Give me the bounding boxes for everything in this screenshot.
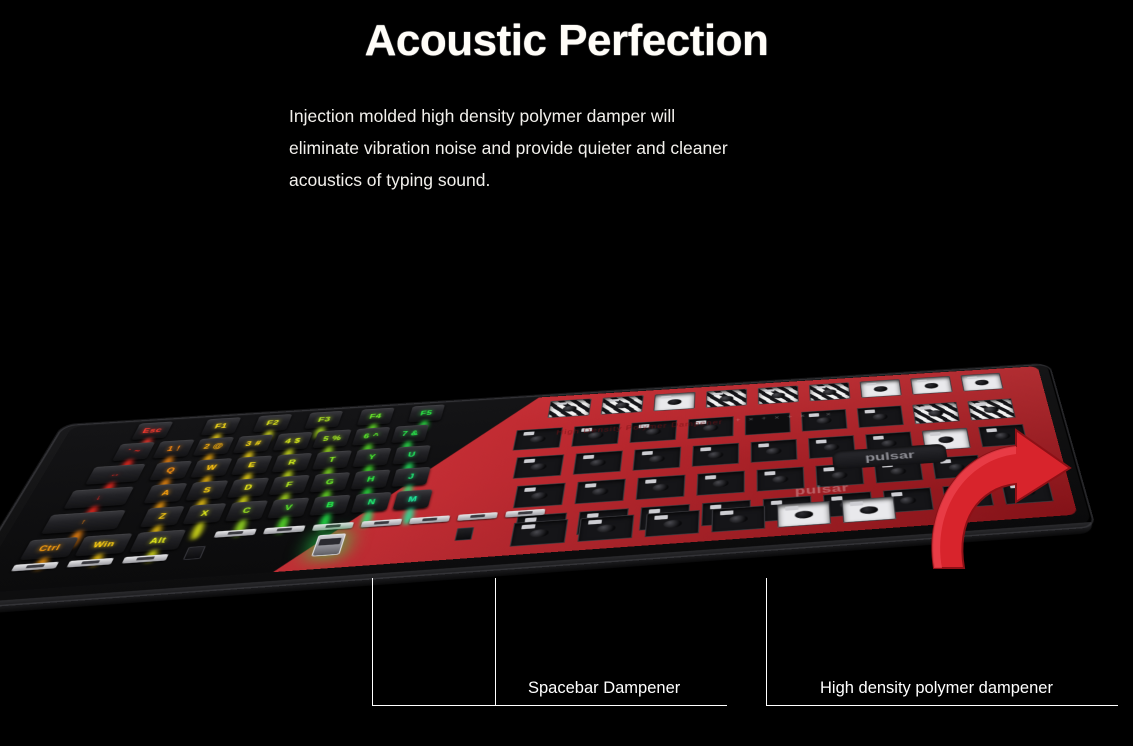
keycap-legend: Win [91,540,116,549]
keycap-f[interactable]: F [268,475,310,495]
keycap-alt[interactable]: Alt [129,530,186,553]
keycap-legend: F4 [368,413,382,420]
keycap-legend: N [366,498,376,506]
switch-socket-bottom-3 [711,505,765,532]
keycap-[interactable]: ↑ [41,510,126,534]
keycap-s[interactable]: S [185,480,228,501]
keycap-legend: ↔ [108,470,122,478]
lift-arrow-icon [920,428,1080,578]
keycap-6[interactable]: 6 ^ [352,427,391,446]
keycap-stabilizer-dampener [11,562,59,572]
callout-line-spacebar-left [372,578,373,705]
callout-line-spacebar-right [495,578,496,705]
switch-socket-r0-c0 [513,427,563,450]
switch-socket-fn-0 [547,399,591,419]
switch-socket-fn-8 [960,373,1003,392]
keycap-legend: X [199,510,210,518]
keycap-[interactable]: ` ~ [112,442,155,461]
keycap-f3[interactable]: F3 [305,411,344,429]
spacebar-dampener-strip [263,525,306,534]
switch-socket-fn-7 [910,376,952,395]
switch-socket-bottom-4 [777,501,831,528]
keycap-legend: R [287,459,297,466]
keycap-z[interactable]: Z [140,506,185,527]
keycap-legend: F2 [265,420,280,427]
switch-socket-r2-c2 [636,475,686,500]
keycap-u[interactable]: U [392,445,431,464]
switch-socket-bottom-1 [577,515,634,542]
keycap-stabilizer-dampener [67,558,115,568]
keycap-2[interactable]: 2 @ [193,437,235,456]
callout-underline-polymer [766,705,1118,706]
switch-socket-r1-c1 [573,451,623,475]
keycap-f2[interactable]: F2 [253,414,293,432]
keycap-legend: S [202,487,213,495]
switch-socket-r2-c0 [513,483,566,509]
switch-socket-fn-2 [653,392,695,411]
description-line-2: eliminate vibration noise and provide qu… [289,132,849,164]
switch-socket-bottom-5 [842,496,897,522]
switch-socket-r1-c2 [633,447,682,471]
keycap-x[interactable]: X [182,503,226,524]
rgb-backlight-glow [189,522,207,541]
keycap-legend: 4 $ [284,438,302,446]
keycap-m[interactable]: M [393,489,433,510]
keycap-w[interactable]: W [190,458,232,478]
page-title: Acoustic Perfection [0,16,1133,66]
keycap-legend: Esc [141,427,163,435]
keycap-legend: J [407,473,415,480]
keycap-legend: G [325,478,336,486]
keycap-legend: 2 @ [202,442,225,450]
keycap-a[interactable]: A [143,483,187,504]
keycap-1[interactable]: 1 ! [152,439,194,458]
keyboard-product-image: High Density Polymer Dampener + × + × + … [18,300,1098,630]
keycap-legend: Q [165,467,177,474]
keycap-h[interactable]: H [350,470,390,490]
keycap-v[interactable]: V [267,498,310,519]
keycap-f4[interactable]: F4 [356,408,394,426]
feature-description: Injection molded high density polymer da… [289,100,849,196]
keycap-f5[interactable]: F5 [408,404,445,422]
switch-socket-r1-c0 [513,454,564,478]
keycap-t[interactable]: T [312,450,352,469]
keycap-b[interactable]: B [309,495,351,516]
keycap-[interactable]: ↓ [63,487,134,509]
keycap-legend: F [285,481,295,489]
keycap-legend: 3 # [244,440,262,448]
switch-socket-r2-c3 [696,471,744,496]
keycap-3[interactable]: 3 # [233,434,274,453]
keycap-legend: B [325,501,336,509]
keycap-esc[interactable]: Esc [131,422,173,441]
description-line-3: acoustics of typing sound. [289,164,849,196]
switch-socket-r1-c3 [692,443,739,467]
keycap-7[interactable]: 7 & [391,424,429,443]
keycap-legend: H [366,476,376,484]
keycap-legend: Z [157,513,168,521]
keycap-legend: V [283,504,293,512]
keycap-legend: F5 [419,410,433,417]
switch-housing [454,527,474,541]
keycap-g[interactable]: G [309,472,350,492]
keycap-legend: A [160,489,172,497]
keycap-ctrl[interactable]: Ctrl [20,537,79,560]
keycap-legend: C [241,507,252,515]
keycap-legend: U [407,451,417,458]
keycap-legend: F3 [317,416,332,423]
keycap-legend: D [243,484,254,492]
keycap-stabilizer-dampener [122,554,169,564]
keycap-4[interactable]: 4 $ [273,432,313,451]
keycap-legend: 7 & [401,430,420,438]
keycap-legend: T [328,456,337,463]
switch-socket-r0-c7 [912,402,960,424]
keycap-legend: F1 [213,423,228,430]
keycap-legend: M [407,496,418,504]
spacebar-dampener-strip [214,529,257,538]
switch-socket-fn-6 [860,379,902,398]
switch-socket-r0-c6 [857,405,904,427]
switch-socket-fn-3 [706,389,747,408]
keycap-j[interactable]: J [391,467,430,487]
switch-socket-r2-c1 [575,479,626,504]
switch-socket-fn-4 [758,386,799,405]
keycap-legend: W [205,464,218,472]
switch-socket-fn-1 [601,395,644,414]
switch-socket-bottom-0 [510,519,569,547]
switch-socket-r1-c4 [751,439,798,463]
keycap-legend: 6 ^ [362,432,379,439]
switch-socket-fn-5 [809,382,850,401]
keycap-legend: 1 ! [165,445,181,453]
keycap-q[interactable]: Q [149,461,192,481]
keycap-legend: ↓ [94,494,104,502]
keycap-c[interactable]: C [225,500,268,521]
keycap-legend: 5 % [322,435,343,443]
keycap-d[interactable]: D [227,478,270,498]
keycap-win[interactable]: Win [75,533,133,556]
keycap-legend: ↑ [79,518,89,526]
keycap-legend: Alt [148,537,168,546]
keycap-f1[interactable]: F1 [200,417,241,435]
keycap-legend: Y [367,454,376,461]
switch-socket-r0-c8 [967,398,1015,420]
keycap-legend: ` ~ [125,448,142,456]
callout-label-polymer: High density polymer dampener [820,679,1053,698]
product-feature-slide: Acoustic Perfection Injection molded hig… [0,0,1133,746]
keycap-legend: Ctrl [37,544,62,553]
keycap-r[interactable]: R [271,453,312,473]
switch-housing [183,546,206,560]
description-line-1: Injection molded high density polymer da… [289,100,849,132]
switch-socket-bottom-2 [645,510,700,537]
callout-underline-spacebar [372,705,727,706]
keycap-legend: E [247,462,257,469]
keycap-e[interactable]: E [231,456,273,476]
keycap-[interactable]: ↔ [85,464,146,485]
callout-label-spacebar: Spacebar Dampener [528,679,680,698]
keycap-5[interactable]: 5 % [312,429,351,448]
callout-line-polymer [766,578,767,705]
keycap-y[interactable]: Y [352,448,391,467]
